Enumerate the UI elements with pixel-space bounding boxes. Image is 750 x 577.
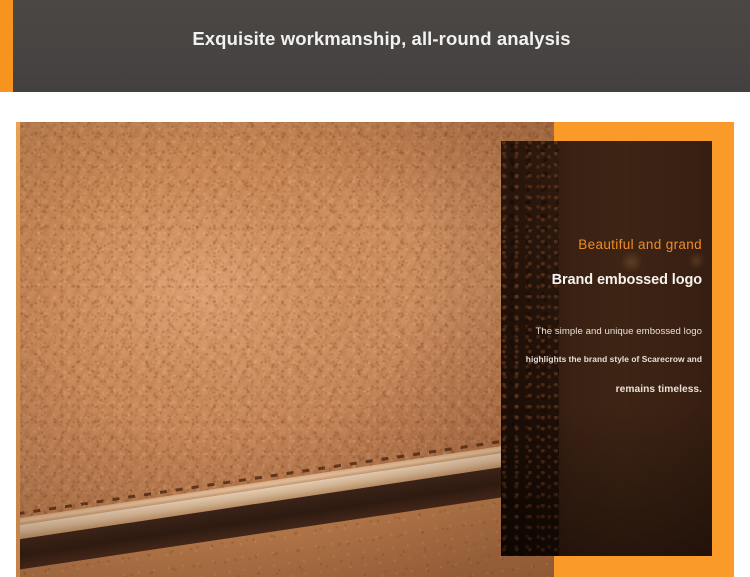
panel-body-text: The simple and unique embossed logo high… xyxy=(507,326,702,395)
panel-body-line-1: The simple and unique embossed logo xyxy=(507,326,702,337)
panel-text-block: Beautiful and grand Brand embossed logo … xyxy=(501,141,712,556)
panel-eyebrow-text: Beautiful and grand xyxy=(578,237,702,252)
page-title: Exquisite workmanship, all-round analysi… xyxy=(13,0,750,92)
leather-vignette xyxy=(16,122,554,577)
product-detail-page: Exquisite workmanship, all-round analysi… xyxy=(0,0,750,577)
photo-left-edge-strip xyxy=(16,122,20,577)
panel-body-line-3: remains timeless. xyxy=(507,384,702,395)
panel-heading-text: Brand embossed logo xyxy=(552,272,702,288)
header-banner: Exquisite workmanship, all-round analysi… xyxy=(0,0,750,92)
leather-product-photo xyxy=(16,122,554,577)
info-overlay-panel: Beautiful and grand Brand embossed logo … xyxy=(501,141,712,556)
header-accent-bar xyxy=(0,0,13,92)
panel-body-line-2: highlights the brand style of Scarecrow … xyxy=(507,354,702,364)
